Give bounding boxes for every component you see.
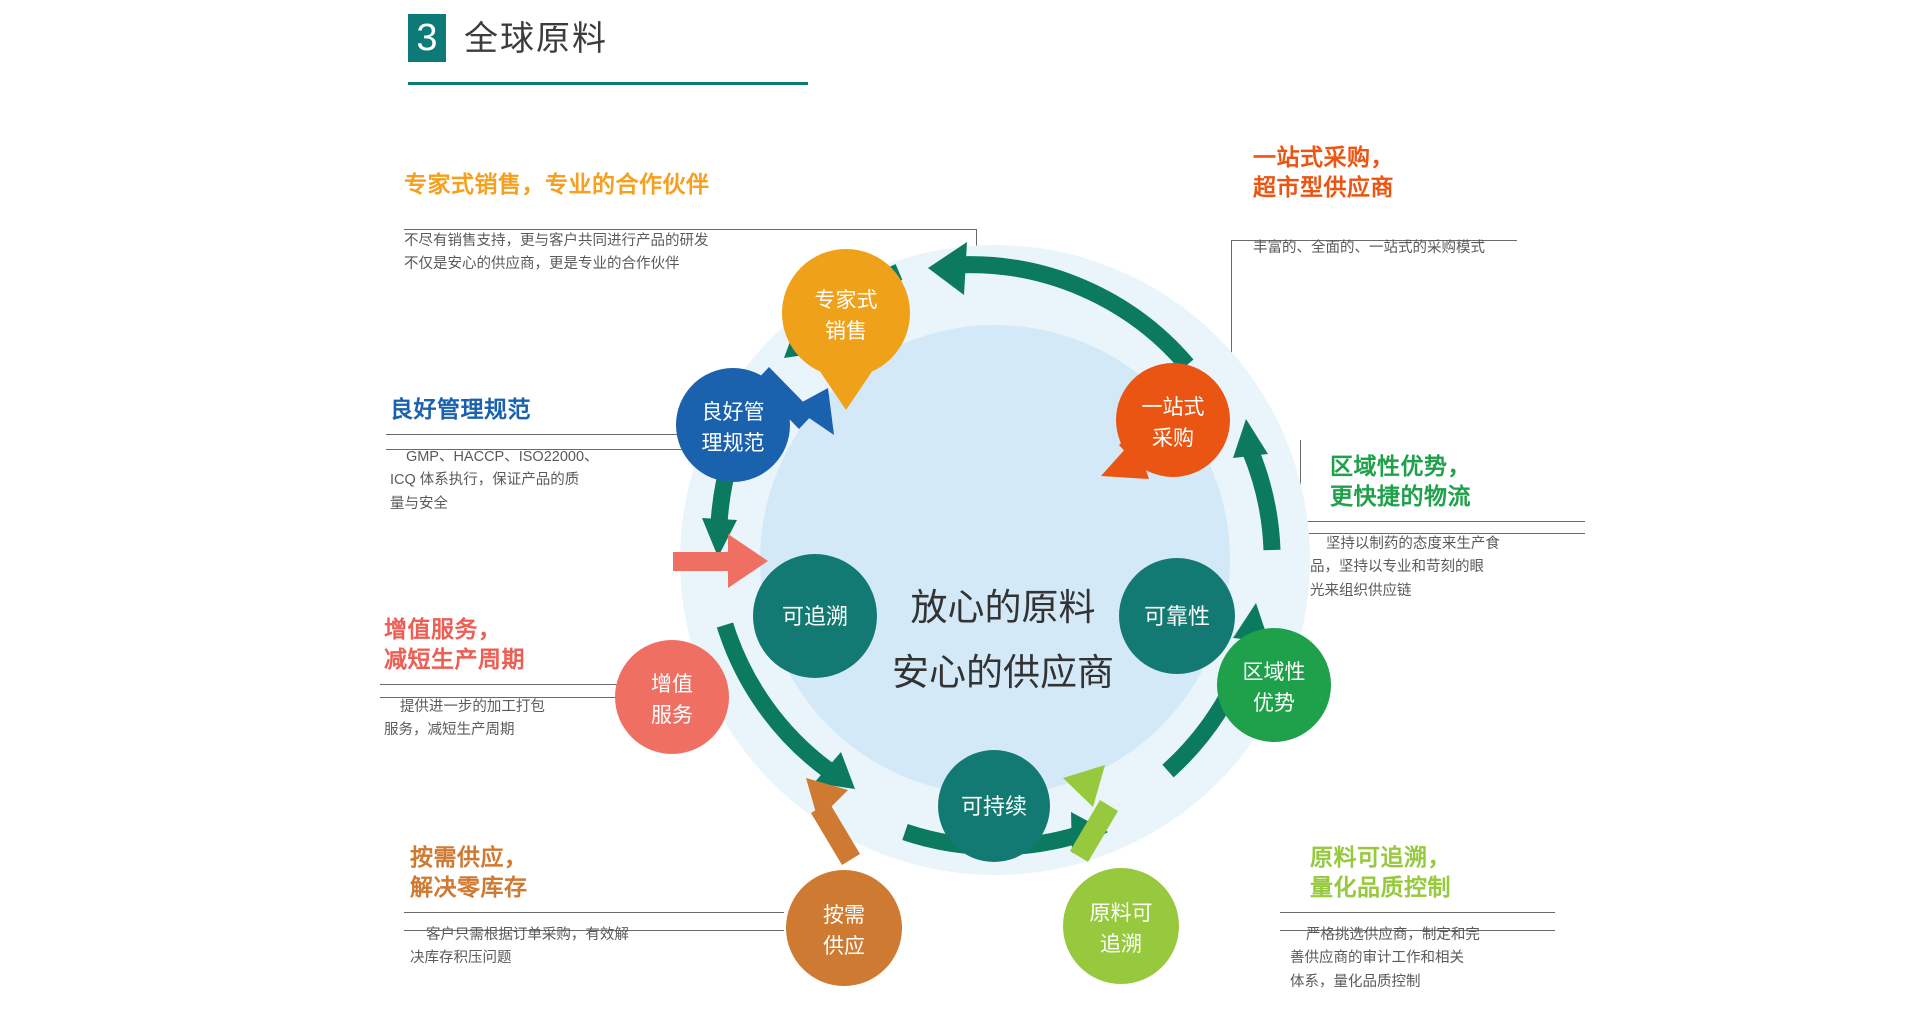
node-traceable[interactable]: 原料可 追溯 (1063, 868, 1179, 984)
node-label-line2: 优势 (1253, 692, 1295, 715)
section-number-badge: 3 (408, 14, 446, 62)
inner-node-traceability[interactable]: 可追溯 (753, 554, 877, 678)
center-title-line2: 安心的供应商 (892, 652, 1114, 693)
inner-node-reliability[interactable]: 可靠性 (1119, 558, 1235, 674)
inner-node-sustainability[interactable]: 可持续 (938, 750, 1050, 862)
center-title-line1: 放心的原料 (911, 587, 1096, 628)
node-good-practice[interactable]: 良好管 理规范 (676, 368, 790, 482)
inner-node-label: 可靠性 (1144, 604, 1210, 629)
node-label-line2: 服务 (651, 704, 693, 727)
cycle-diagram: 可追溯 可靠性 可持续 放心的原料 安心的供应商 专家式 销售 一站式 采购 区… (560, 120, 1460, 1020)
header-underline (408, 82, 808, 85)
node-regional[interactable]: 区域性 优势 (1217, 628, 1331, 742)
node-label-line1: 良好管 (702, 401, 765, 424)
node-label-line1: 一站式 (1142, 396, 1205, 419)
node-label-line2: 供应 (823, 935, 865, 958)
inner-node-label: 可持续 (961, 794, 1027, 819)
node-value-added[interactable]: 增值 服务 (615, 640, 729, 754)
node-expert-sales[interactable]: 专家式 销售 (782, 249, 910, 377)
node-label-line2: 销售 (825, 320, 867, 343)
inner-node-label: 可追溯 (782, 604, 848, 629)
node-label-line1: 原料可 (1090, 902, 1153, 925)
node-label-line2: 采购 (1152, 427, 1194, 450)
node-label-line2: 理规范 (702, 432, 765, 455)
page-title: 全球原料 (464, 16, 608, 62)
node-on-demand[interactable]: 按需 供应 (786, 870, 902, 986)
node-label-line1: 增值 (651, 673, 693, 696)
node-label-line1: 按需 (823, 904, 865, 927)
node-label-line2: 追溯 (1100, 933, 1142, 956)
node-one-stop[interactable]: 一站式 采购 (1116, 363, 1230, 477)
node-label-line1: 区域性 (1243, 661, 1306, 684)
node-label-line1: 专家式 (815, 289, 878, 312)
page-header: 3 全球原料 (408, 10, 808, 80)
